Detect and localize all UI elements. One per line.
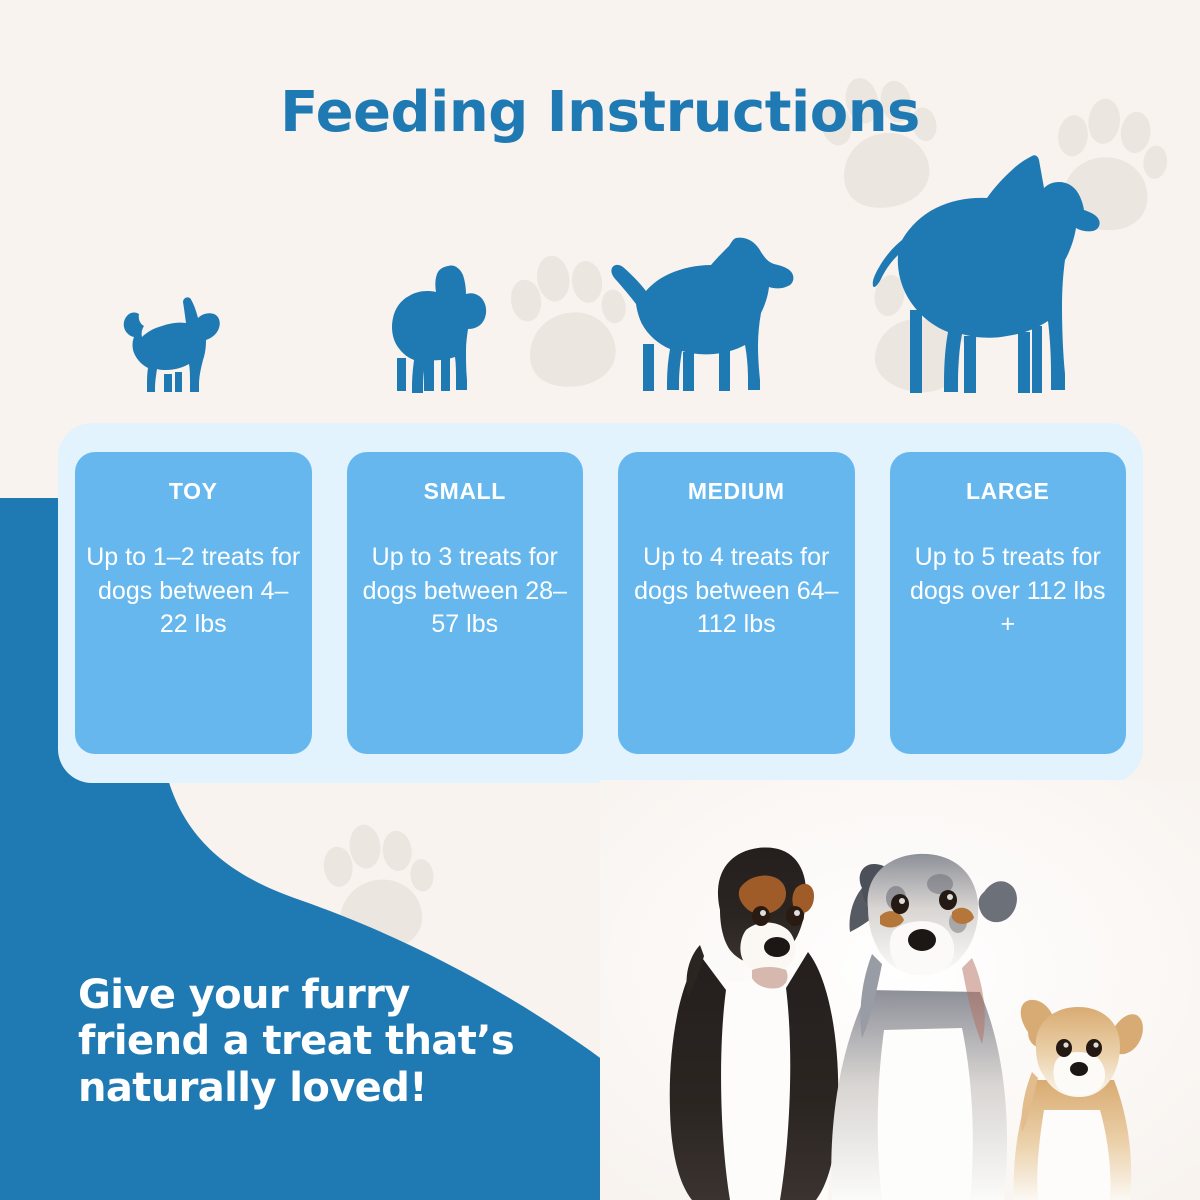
- shetland-sheepdog: [831, 854, 1017, 1200]
- large-dog-silhouette: [872, 150, 1102, 398]
- feeding-card-medium[interactable]: MEDIUM Up to 4 treats for dogs between 6…: [618, 452, 855, 754]
- feeding-card-small[interactable]: SMALL Up to 3 treats for dogs between 28…: [347, 452, 584, 754]
- feeding-card-large[interactable]: LARGE Up to 5 treats for dogs over 112 l…: [890, 452, 1127, 754]
- card-title: SMALL: [357, 480, 574, 503]
- feeding-card-toy[interactable]: TOY Up to 1–2 treats for dogs between 4–…: [75, 452, 312, 754]
- card-body: Up to 4 treats for dogs between 64–112 l…: [628, 541, 845, 642]
- tagline-line-1: Give your furry: [78, 972, 598, 1018]
- toy-dog-silhouette: [120, 292, 240, 396]
- card-title: MEDIUM: [628, 480, 845, 503]
- feeding-cards-row: TOY Up to 1–2 treats for dogs between 4–…: [58, 423, 1143, 783]
- three-dogs-photo: [600, 780, 1200, 1200]
- card-body: Up to 1–2 treats for dogs between 4–22 l…: [85, 541, 302, 642]
- card-body: Up to 5 treats for dogs over 112 lbs +: [900, 541, 1117, 642]
- small-dog-silhouette: [376, 260, 518, 396]
- tagline-line-3: naturally loved!: [78, 1065, 598, 1111]
- tagline-line-2: friend a treat that’s: [78, 1018, 598, 1064]
- tagline: Give your furry friend a treat that’s na…: [78, 972, 598, 1111]
- medium-dog-silhouette: [608, 232, 798, 398]
- card-title: TOY: [85, 480, 302, 503]
- card-body: Up to 3 treats for dogs between 28–57 lb…: [357, 541, 574, 642]
- card-title: LARGE: [900, 480, 1117, 503]
- page-title: Feeding Instructions: [0, 80, 1200, 145]
- poster-canvas: Feeding Instructions TOY Up to 1–2 treat…: [0, 0, 1200, 1200]
